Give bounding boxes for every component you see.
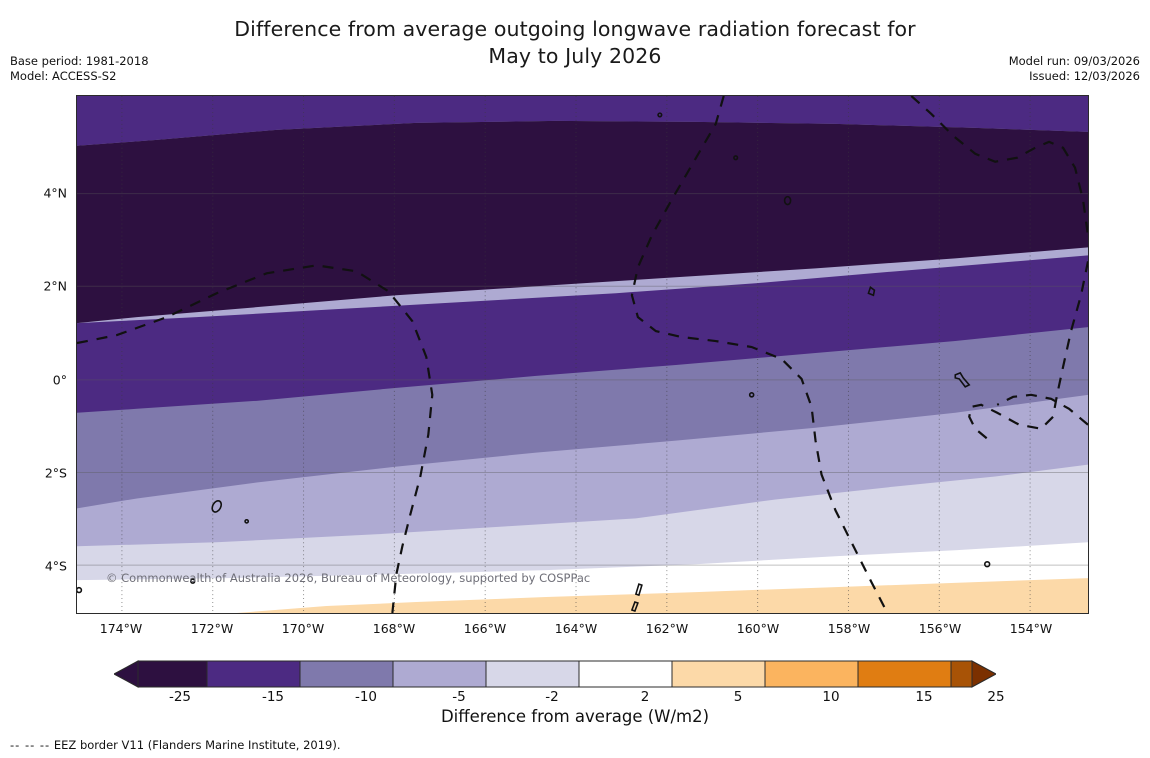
colorbar-tick-1: -15 <box>262 689 284 705</box>
colorbar-over-arrow <box>972 661 996 687</box>
colorbar-tick-5: 2 <box>641 689 650 705</box>
colorbar-band-lt-m25 <box>138 661 207 687</box>
page-title-line-2: May to July 2026 <box>0 43 1150 70</box>
colorbar-tick-8: 15 <box>915 689 932 705</box>
model-text: Model: ACCESS-S2 <box>10 69 149 84</box>
olr-forecast-map-page: Difference from average outgoing longwav… <box>0 0 1150 758</box>
colorbar-band-m25-m15 <box>207 661 300 687</box>
x-axis-tick-7: 160°W <box>737 621 779 636</box>
contour-band-group <box>77 96 1088 613</box>
colorbar-tick-2: -10 <box>355 689 377 705</box>
x-axis-tick-6: 162°W <box>646 621 688 636</box>
x-axis-tick-9: 156°W <box>919 621 961 636</box>
contour-field <box>77 96 1088 613</box>
colorbar-tick-0: -25 <box>169 689 191 705</box>
colorbar-band-15-25 <box>951 661 972 687</box>
colorbar-band-5-10 <box>765 661 858 687</box>
issued-text: Issued: 12/03/2026 <box>1009 69 1140 84</box>
colorbar-axis-label: Difference from average (W/m2) <box>0 707 1150 726</box>
colorbar-band-m15-m10 <box>300 661 393 687</box>
colorbar-tick-9: 25 <box>987 689 1004 705</box>
eez-legend-text: EEZ border V11 (Flanders Marine Institut… <box>54 738 341 752</box>
x-axis-tick-10: 154°W <box>1010 621 1052 636</box>
y-axis-tick-0: 4°N <box>43 186 67 201</box>
map-plot-area <box>76 95 1089 614</box>
colorbar-tick-3: -5 <box>452 689 465 705</box>
x-axis-tick-0: 174°W <box>100 621 142 636</box>
page-title: Difference from average outgoing longwav… <box>0 16 1150 70</box>
colorbar-swatches <box>114 659 996 689</box>
y-axis-tick-3: 2°S <box>45 466 67 481</box>
colorbar-band-m5-m2 <box>486 661 579 687</box>
colorbar <box>114 659 996 689</box>
x-axis-tick-2: 170°W <box>282 621 324 636</box>
colorbar-tick-7: 10 <box>822 689 839 705</box>
y-axis-tick-1: 2°N <box>43 279 67 294</box>
x-axis-tick-1: 172°W <box>191 621 233 636</box>
x-axis-tick-8: 158°W <box>828 621 870 636</box>
colorbar-band-10-15 <box>858 661 951 687</box>
base-period-text: Base period: 1981-2018 <box>10 54 149 69</box>
colorbar-tick-6: 5 <box>734 689 743 705</box>
colorbar-under-arrow <box>114 661 138 687</box>
metadata-left: Base period: 1981-2018 Model: ACCESS-S2 <box>10 54 149 84</box>
colorbar-band-m2-2 <box>579 661 672 687</box>
y-axis-tick-2: 0° <box>53 373 67 388</box>
x-axis-tick-4: 166°W <box>464 621 506 636</box>
eez-dash-sample: -- -- -- <box>10 738 50 752</box>
page-title-line-1: Difference from average outgoing longwav… <box>0 16 1150 43</box>
colorbar-tick-4: -2 <box>545 689 558 705</box>
x-axis-tick-5: 164°W <box>555 621 597 636</box>
x-axis-tick-3: 168°W <box>373 621 415 636</box>
model-run-text: Model run: 09/03/2026 <box>1009 54 1140 69</box>
colorbar-band-2-5 <box>672 661 765 687</box>
eez-legend-footnote: -- -- -- EEZ border V11 (Flanders Marine… <box>10 738 341 752</box>
colorbar-band-m10-m5 <box>393 661 486 687</box>
y-axis-tick-4: 4°S <box>45 559 67 574</box>
metadata-right: Model run: 09/03/2026 Issued: 12/03/2026 <box>1009 54 1140 84</box>
